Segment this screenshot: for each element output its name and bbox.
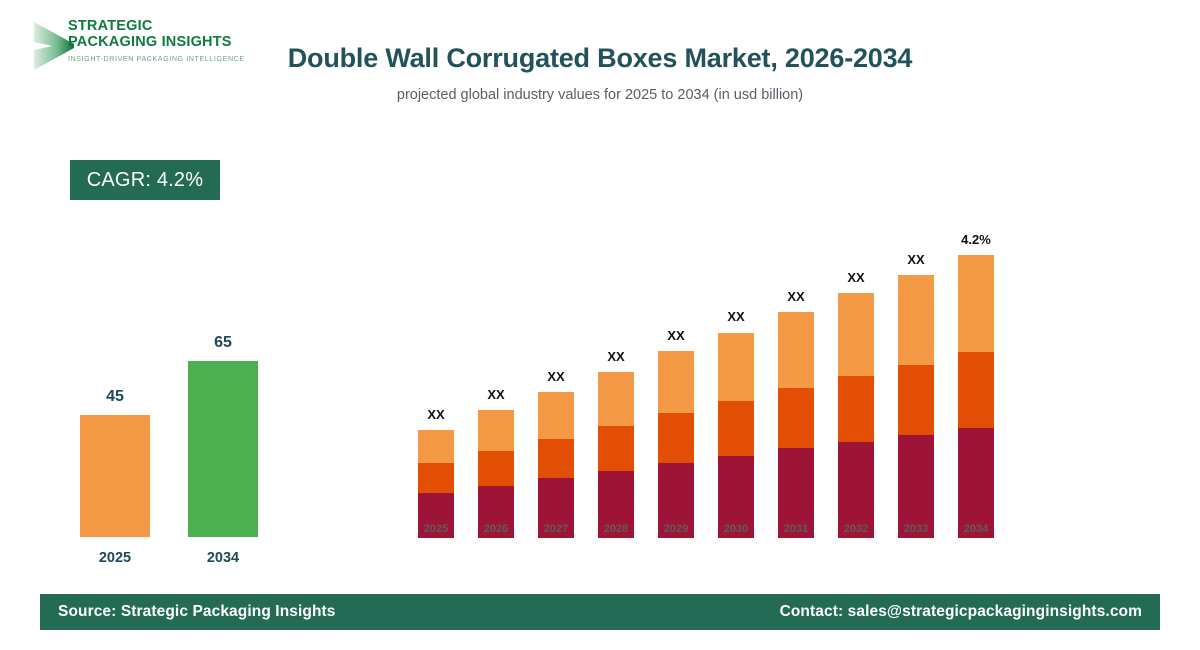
stack-column [838, 293, 874, 538]
stack-column [418, 430, 454, 538]
stacked-bar-2025: XX2025 [418, 430, 454, 538]
logo-tagline: INSIGHT-DRIVEN PACKAGING INTELLIGENCE [68, 54, 278, 63]
stack-category-label: 2027 [524, 523, 588, 535]
stack-segment-segment-middle [598, 426, 634, 471]
stack-segment-segment-top [718, 333, 754, 401]
stack-segment-segment-top [538, 392, 574, 439]
stack-segment-segment-middle [838, 376, 874, 442]
stack-column [598, 372, 634, 538]
stack-segment-segment-middle [418, 463, 454, 493]
stack-column [778, 312, 814, 538]
bar-category-label: 2025 [80, 537, 150, 566]
title-block: Double Wall Corrugated Boxes Market, 202… [260, 40, 940, 104]
page-subtitle: projected global industry values for 202… [260, 86, 940, 104]
stack-category-label: 2030 [704, 523, 768, 535]
stack-column [898, 275, 934, 538]
stack-category-label: 2033 [884, 523, 948, 535]
logo-wordmark: STRATEGIC PACKAGING INSIGHTS INSIGHT-DRI… [68, 18, 278, 63]
stack-segment-segment-top [658, 351, 694, 413]
stacked-bar-2031: XX2031 [778, 312, 814, 538]
stacked-bar-2030: XX2030 [718, 332, 754, 538]
stack-value-label: XX [704, 309, 768, 324]
stack-value-label: XX [884, 252, 948, 267]
bar-value-label: 45 [80, 388, 150, 406]
stack-segment-segment-top [418, 430, 454, 463]
stacked-bar-2026: XX2026 [478, 410, 514, 538]
stacked-bar-2033: XX2033 [898, 275, 934, 538]
stack-category-label: 2031 [764, 523, 828, 535]
bar-value-label: 65 [188, 334, 258, 352]
stack-segment-segment-top [478, 410, 514, 451]
stack-segment-segment-middle [778, 388, 814, 449]
stack-column [538, 392, 574, 538]
stack-category-label: 2034 [944, 523, 1008, 535]
stack-category-label: 2028 [584, 523, 648, 535]
stack-segment-segment-top [598, 372, 634, 426]
stack-column [658, 351, 694, 538]
footer-bar: Source: Strategic Packaging Insights Con… [40, 594, 1160, 630]
stack-value-label: XX [764, 289, 828, 304]
endpoint-comparison-chart: 452025652034 [40, 300, 300, 580]
stacked-bar-2028: XX2028 [598, 372, 634, 538]
footer-source: Source: Strategic Packaging Insights [58, 603, 336, 621]
stack-category-label: 2025 [404, 523, 468, 535]
stack-segment-segment-top [778, 312, 814, 388]
stack-value-label: XX [644, 328, 708, 343]
bar-2034: 652034 [188, 361, 258, 537]
stack-segment-segment-middle [658, 413, 694, 463]
stack-value-label: XX [524, 369, 588, 384]
stack-segment-segment-bottom [958, 428, 994, 538]
stack-segment-segment-top [898, 275, 934, 365]
stack-value-label: 4.2% [944, 232, 1008, 247]
stack-value-label: XX [464, 387, 528, 402]
stack-category-label: 2029 [644, 523, 708, 535]
stack-segment-segment-middle [718, 401, 754, 456]
stack-segment-segment-middle [898, 365, 934, 435]
stack-column [718, 332, 754, 538]
stack-category-label: 2026 [464, 523, 528, 535]
bar-2025: 452025 [80, 415, 150, 537]
stack-segment-segment-top [958, 255, 994, 352]
brand-logo: STRATEGIC PACKAGING INSIGHTS INSIGHT-DRI… [30, 16, 280, 78]
stacked-bar-2032: XX2032 [838, 293, 874, 538]
stack-value-label: XX [404, 407, 468, 422]
stack-column [958, 255, 994, 538]
logo-line-2: PACKAGING INSIGHTS [68, 34, 278, 50]
footer-contact: Contact: sales@strategicpackaginginsight… [780, 603, 1142, 621]
stacked-bar-2027: XX2027 [538, 392, 574, 538]
bar-rect [188, 361, 258, 537]
bar-rect [80, 415, 150, 537]
stacked-bar-2034: 4.2%2034 [958, 255, 994, 538]
stack-segment-segment-middle [958, 352, 994, 428]
bar-category-label: 2034 [188, 537, 258, 566]
stack-value-label: XX [584, 349, 648, 364]
logo-line-1: STRATEGIC [68, 18, 278, 34]
infographic-page: STRATEGIC PACKAGING INSIGHTS INSIGHT-DRI… [0, 0, 1200, 650]
stacked-bar-2029: XX2029 [658, 351, 694, 538]
stack-segment-segment-top [838, 293, 874, 376]
stack-segment-segment-middle [538, 439, 574, 478]
page-title: Double Wall Corrugated Boxes Market, 202… [260, 40, 940, 76]
stack-column [478, 410, 514, 538]
stack-segment-segment-middle [478, 451, 514, 486]
stack-category-label: 2032 [824, 523, 888, 535]
stack-value-label: XX [824, 270, 888, 285]
cagr-badge: CAGR: 4.2% [70, 160, 220, 200]
projection-stacked-chart: XX2025XX2026XX2027XX2028XX2029XX2030XX20… [400, 190, 1020, 560]
